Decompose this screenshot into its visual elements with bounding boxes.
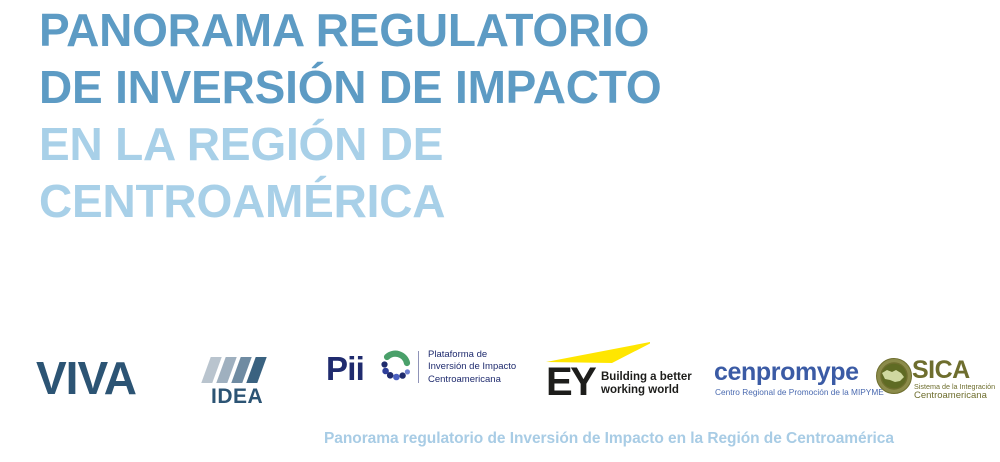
viva-wordmark: VIVA [36,355,136,401]
title-line-3: EN LA REGIÓN DE [39,116,759,173]
title-line-1: PANORAMA REGULATORIO [39,2,759,59]
cenpromype-wordmark: cenpromype [714,360,859,385]
ey-wordmark: EY [546,362,594,402]
sponsor-logo-strip: VIVA IDEA Pii Plataforma de Inversi [0,340,1000,420]
piic-tagline-line-3: Centroamericana [428,374,501,385]
piic-tagline: Plataforma de Inversión de Impacto Centr… [428,349,516,386]
piic-divider [418,351,419,383]
logo-cenpromype: cenpromype Centro Regional de Promoción … [714,340,864,420]
title-line-4: CENTROAMÉRICA [39,173,759,230]
title-line-2: DE INVERSIÓN DE IMPACTO [39,59,759,116]
viva-bars-icon [204,357,274,383]
piic-tagline-line-1: Plataforma de [428,349,487,360]
sica-emblem-icon [876,358,912,394]
viva-submark: IDEA [211,385,263,409]
logo-sica: SICA Sistema de la Integración Centroame… [876,340,1000,420]
logo-piic: Pii Plataforma de Inversión de Impacto C… [326,340,516,420]
sica-wordmark: SICA [912,358,970,383]
piic-wordmark: Pii [326,352,364,385]
piic-tagline-line-2: Inversión de Impacto [428,361,516,372]
ey-tagline-line-1: Building a better [601,371,692,383]
logo-ey: EY Building a better working world [546,340,696,420]
ey-tagline: Building a better working world [601,371,692,397]
ey-tagline-line-2: working world [601,384,679,396]
cenpromype-tagline: Centro Regional de Promoción de la MIPYM… [715,387,884,397]
sica-tagline-line-2: Centroamericana [914,390,987,401]
page-title: PANORAMA REGULATORIO DE INVERSIÓN DE IMP… [39,2,759,230]
logo-viva-idea: VIVA IDEA [36,340,276,420]
footer-caption: Panorama regulatorio de Inversión de Imp… [324,430,894,448]
sica-tagline: Sistema de la Integración Centroamerican… [914,382,995,400]
piic-c-mark-icon [377,347,413,383]
